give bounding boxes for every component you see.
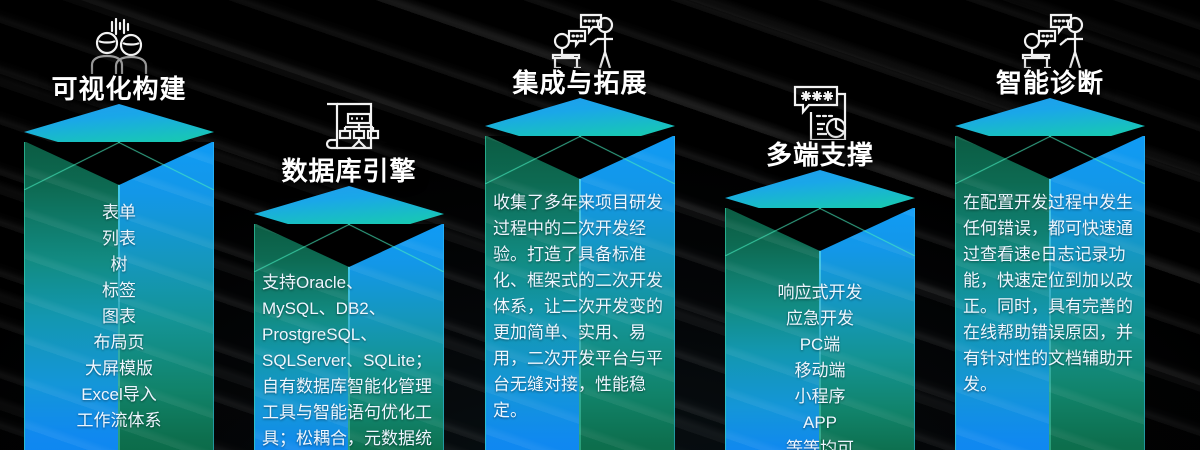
database-orgchart-icon xyxy=(318,100,380,156)
feature-pillar-smart-diagnosis[interactable]: 智能诊断 在配置开发过程中发生任何错误，都可快速通过查看速e日志记录功能，快速定… xyxy=(955,0,1145,450)
pillar-head: 集成与拓展 xyxy=(485,0,675,96)
document-asterisk-bubble-icon xyxy=(787,84,853,140)
pillar-head: 多端支撑 xyxy=(725,72,915,168)
feature-pillar-visual-build[interactable]: 可视化构建 表单 列表 树 标签 图表 布局页 大屏模版 Excel导入 工作流… xyxy=(24,6,214,450)
pillar-title: 多端支撑 xyxy=(766,142,874,168)
pillar-body: 收集了多年来项目研发过程中的二次开发经验。打造了具备标准化、框架式的二次开发体系… xyxy=(485,136,675,450)
pillar-body-text: 在配置开发过程中发生任何错误，都可快速通过查看速e日志记录功能，快速定位到加以改… xyxy=(955,136,1145,398)
pillar-body: 支持Oracle、MySQL、DB2、ProstgreSQL、SQLServer… xyxy=(254,224,444,450)
pillar-body: 在配置开发过程中发生任何错误，都可快速通过查看速e日志记录功能，快速定位到加以改… xyxy=(955,136,1145,450)
pillar-head: 可视化构建 xyxy=(24,6,214,102)
pillar-body-text: 收集了多年来项目研发过程中的二次开发经验。打造了具备标准化、框架式的二次开发体系… xyxy=(485,136,675,424)
two-people-data-icon xyxy=(86,18,152,74)
pillar-head: 数据库引擎 xyxy=(254,88,444,184)
pillar-title: 数据库引擎 xyxy=(281,158,416,184)
pillar-body-text: 表单 列表 树 标签 图表 布局页 大屏模版 Excel导入 工作流体系 xyxy=(24,142,214,434)
people-discussion-desk-icon xyxy=(1013,12,1087,68)
pillar-head: 智能诊断 xyxy=(955,0,1145,96)
pillar-body: 响应式开发 应急开发 PC端 移动端 小程序 APP 等等均可 xyxy=(725,208,915,450)
feature-pillar-multi-terminal-support[interactable]: 多端支撑 响应式开发 应急开发 PC端 移动端 小程序 APP 等等均可 xyxy=(725,72,915,450)
poster-stage: 可视化构建 表单 列表 树 标签 图表 布局页 大屏模版 Excel导入 工作流… xyxy=(0,0,1200,450)
pillar-body: 表单 列表 树 标签 图表 布局页 大屏模版 Excel导入 工作流体系 xyxy=(24,142,214,450)
pillar-title: 集成与拓展 xyxy=(512,70,647,96)
pillar-body-text: 响应式开发 应急开发 PC端 移动端 小程序 APP 等等均可 xyxy=(725,208,915,450)
pillar-title: 智能诊断 xyxy=(996,70,1104,96)
pillar-body-text: 支持Oracle、MySQL、DB2、ProstgreSQL、SQLServer… xyxy=(254,224,444,450)
feature-pillar-integration-extension[interactable]: 集成与拓展 收集了多年来项目研发过程中的二次开发经验。打造了具备标准化、框架式的… xyxy=(485,0,675,450)
feature-pillar-database-engine[interactable]: 数据库引擎 支持Oracle、MySQL、DB2、ProstgreSQL、SQL… xyxy=(254,88,444,450)
people-discussion-desk-icon xyxy=(543,12,617,68)
pillar-title: 可视化构建 xyxy=(51,76,186,102)
